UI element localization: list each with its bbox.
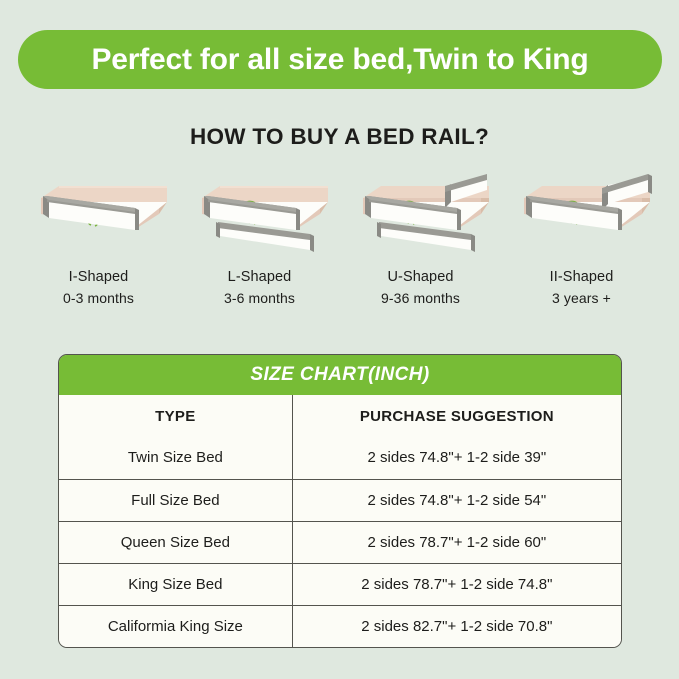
- bed-shape-gallery: I-Shaped 0-3 months: [18, 168, 662, 328]
- bed-shape-label: II-Shaped: [550, 269, 614, 285]
- bed-shape-item-u: U-Shaped 9-36 months: [340, 168, 501, 328]
- bed-shape-label: U-Shaped: [387, 269, 453, 285]
- bed-shape-item-l: L-Shaped 3-6 months: [179, 168, 340, 328]
- bed-shape-item-ii: II-Shaped 3 years +: [501, 168, 662, 328]
- cell-type: Queen Size Bed: [59, 521, 292, 563]
- table-row: Full Size Bed 2 sides 74.8"+ 1-2 side 54…: [59, 479, 621, 521]
- table-row: King Size Bed 2 sides 78.7"+ 1-2 side 74…: [59, 563, 621, 605]
- cell-type: Califormia King Size: [59, 605, 292, 647]
- table-header-row: TYPE PURCHASE SUGGESTION: [59, 395, 621, 437]
- bed-shape-item-i: I-Shaped 0-3 months: [18, 168, 179, 328]
- cell-suggestion: 2 sides 78.7"+ 1-2 side 60": [292, 521, 621, 563]
- page-title: HOW TO BUY A BED RAIL?: [0, 124, 679, 150]
- bed-shape-age: 0-3 months: [63, 290, 134, 306]
- promo-banner-text: Perfect for all size bed,Twin to King: [91, 43, 588, 77]
- column-header-type: TYPE: [59, 395, 292, 437]
- table-row: Queen Size Bed 2 sides 78.7"+ 1-2 side 6…: [59, 521, 621, 563]
- table-row: Califormia King Size 2 sides 82.7"+ 1-2 …: [59, 605, 621, 647]
- bed-illustration-ii-shaped: [502, 168, 662, 264]
- bed-shape-label: L-Shaped: [228, 269, 292, 285]
- cell-type: Twin Size Bed: [59, 437, 292, 479]
- column-header-suggestion: PURCHASE SUGGESTION: [292, 395, 621, 437]
- cell-suggestion: 2 sides 78.7"+ 1-2 side 74.8": [292, 563, 621, 605]
- cell-suggestion: 2 sides 74.8"+ 1-2 side 39": [292, 437, 621, 479]
- bed-shape-age: 3 years +: [552, 290, 611, 306]
- bed-illustration-i-shaped: [19, 168, 179, 264]
- cell-type: King Size Bed: [59, 563, 292, 605]
- infographic-page: Perfect for all size bed,Twin to King HO…: [0, 0, 679, 679]
- bed-illustration-u-shaped: [341, 168, 501, 264]
- bed-illustration-l-shaped: [180, 168, 340, 264]
- bed-shape-label: I-Shaped: [69, 269, 129, 285]
- bed-shape-age: 9-36 months: [381, 290, 460, 306]
- headboard: [220, 186, 328, 202]
- bed-shape-age: 3-6 months: [224, 290, 295, 306]
- cell-suggestion: 2 sides 74.8"+ 1-2 side 54": [292, 479, 621, 521]
- size-chart-table: TYPE PURCHASE SUGGESTION Twin Size Bed 2…: [59, 395, 621, 647]
- size-chart: SIZE CHART(INCH) TYPE PURCHASE SUGGESTIO…: [58, 354, 622, 648]
- cell-type: Full Size Bed: [59, 479, 292, 521]
- size-chart-title: SIZE CHART(INCH): [59, 355, 621, 395]
- cell-suggestion: 2 sides 82.7"+ 1-2 side 70.8": [292, 605, 621, 647]
- headboard: [59, 186, 167, 202]
- table-row: Twin Size Bed 2 sides 74.8"+ 1-2 side 39…: [59, 437, 621, 479]
- promo-banner: Perfect for all size bed,Twin to King: [18, 30, 662, 89]
